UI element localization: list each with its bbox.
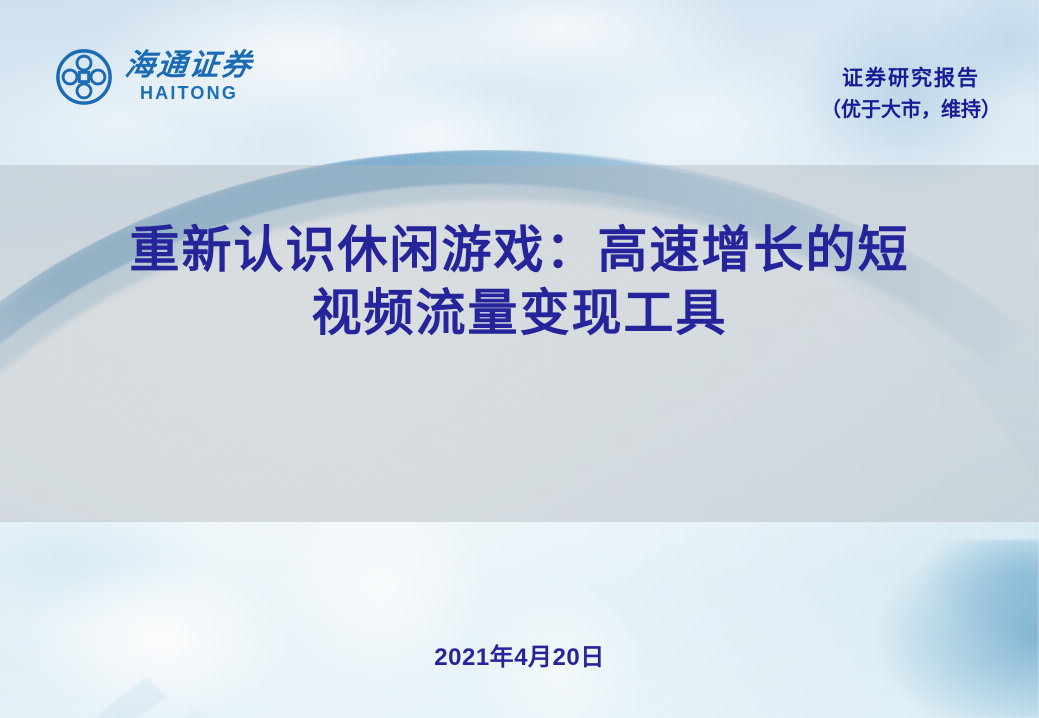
investment-rating-label: （优于大市，维持）: [821, 94, 1001, 124]
haitong-logo-english: HAITONG: [140, 83, 238, 104]
page-title-line-1: 重新认识休闲游戏：高速增长的短: [60, 218, 979, 281]
report-date: 2021年4月20日: [0, 637, 1039, 672]
right-edge-blue-wash: [739, 540, 1039, 718]
presentation-title-slide: 海通证券 HAITONG 证券研究报告 （优于大市，维持） 重新认识休闲游戏：高…: [0, 0, 1039, 718]
slide-header: 海通证券 HAITONG 证券研究报告 （优于大市，维持）: [0, 0, 1039, 165]
report-header-right: 证券研究报告 （优于大市，维持）: [821, 62, 1001, 124]
haitong-logo: 海通证券 HAITONG: [55, 48, 253, 106]
haitong-logo-wordmark: 海通证券 HAITONG: [125, 50, 253, 105]
page-title-line-2: 视频流量变现工具: [60, 281, 979, 344]
haitong-logo-chinese: 海通证券: [123, 50, 254, 82]
haitong-circular-knot-emblem-icon: [55, 48, 113, 106]
report-type-label: 证券研究报告: [821, 62, 1001, 94]
page-title: 重新认识休闲游戏：高速增长的短 视频流量变现工具: [0, 218, 1039, 344]
